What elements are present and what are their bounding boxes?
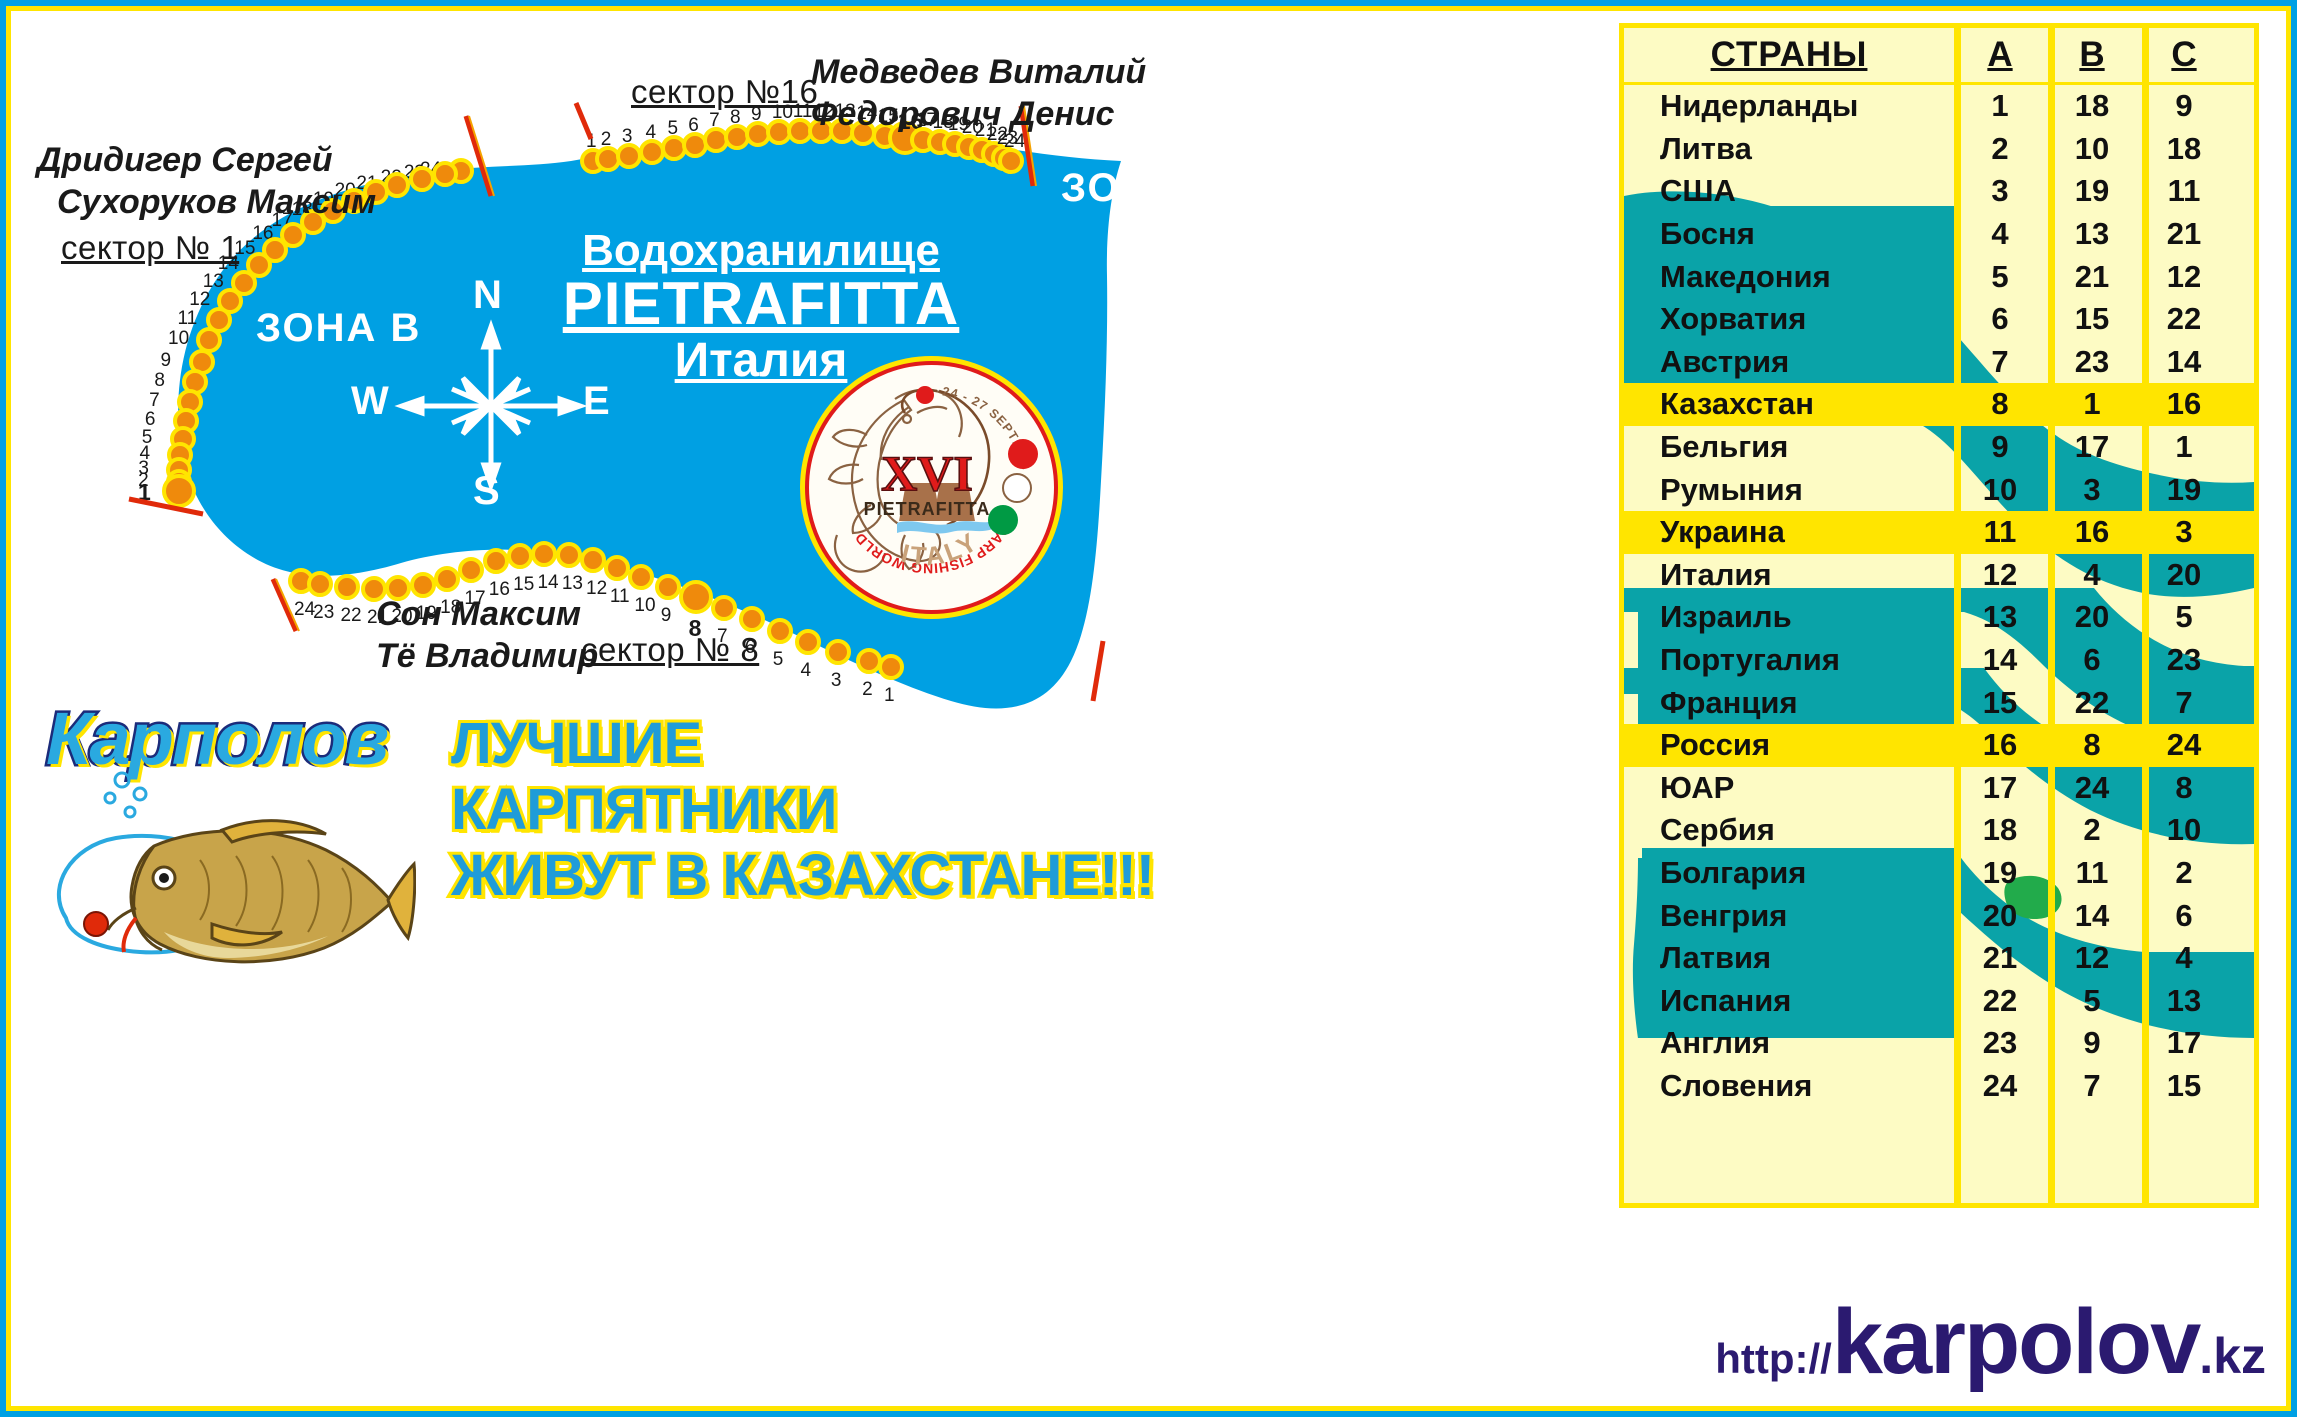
sector-peg-number: 10 xyxy=(634,595,655,617)
zone-a-angler-2: Тё Владимир xyxy=(376,635,598,677)
table-row: Италия12420 xyxy=(1624,554,2254,597)
cell-zone-a: 22 xyxy=(1954,983,2046,1019)
sector-peg[interactable] xyxy=(307,571,333,597)
cell-zone-b: 23 xyxy=(2046,344,2138,380)
poster-canvas: ЗОНА C ЗОНА B ЗОНА A Водохранилище PIETR… xyxy=(11,11,2286,1406)
sector-peg-number: 8 xyxy=(154,370,165,392)
cell-zone-b: 11 xyxy=(2046,855,2138,891)
cell-zone-b: 22 xyxy=(2046,685,2138,721)
cell-zone-a: 12 xyxy=(1954,557,2046,593)
cell-zone-a: 14 xyxy=(1954,642,2046,678)
table-row: Казахстан8116 xyxy=(1624,383,2254,426)
sector-peg[interactable] xyxy=(483,548,509,574)
cell-zone-a: 8 xyxy=(1954,386,2046,422)
table-header-row: СТРАНЫ A B C xyxy=(1624,28,2254,85)
cell-country: Англия xyxy=(1624,1025,1954,1061)
cell-zone-c: 13 xyxy=(2138,983,2230,1019)
cell-country: Израиль xyxy=(1624,599,1954,635)
cell-country: Нидерланды xyxy=(1624,88,1954,124)
cell-zone-a: 18 xyxy=(1954,812,2046,848)
zone-c-angler-1: Медведев Виталий xyxy=(811,51,1146,93)
cell-zone-b: 24 xyxy=(2046,770,2138,806)
cell-zone-b: 10 xyxy=(2046,131,2138,167)
cell-zone-c: 10 xyxy=(2138,812,2230,848)
table-row: Болгария19112 xyxy=(1624,852,2254,895)
table-row: Румыния10319 xyxy=(1624,468,2254,511)
sector-peg[interactable] xyxy=(679,580,713,614)
table-row: Босня41321 xyxy=(1624,213,2254,256)
sector-peg-number: 4 xyxy=(645,122,656,144)
zone-b-angler-2: Сухоруков Максим xyxy=(37,181,376,223)
cell-zone-c: 14 xyxy=(2138,344,2230,380)
url-protocol: http:// xyxy=(1715,1335,1832,1382)
compass-rose: N S E W xyxy=(391,311,591,501)
cell-zone-c: 7 xyxy=(2138,685,2230,721)
zone-a-angler-1: Сон Максим xyxy=(376,593,598,635)
header-countries: СТРАНЫ xyxy=(1624,35,1954,75)
cell-country: Россия xyxy=(1624,727,1954,763)
cell-zone-a: 24 xyxy=(1954,1068,2046,1104)
cell-zone-b: 18 xyxy=(2046,88,2138,124)
url-tld: .kz xyxy=(2199,1328,2266,1384)
compass-west-label: W xyxy=(351,379,389,424)
cell-country: Македония xyxy=(1624,259,1954,295)
table-row: Россия16824 xyxy=(1624,724,2254,767)
sector-peg[interactable] xyxy=(767,618,793,644)
sector-peg-number: 2 xyxy=(862,679,873,701)
cell-zone-a: 10 xyxy=(1954,472,2046,508)
cell-zone-c: 9 xyxy=(2138,88,2230,124)
sector-peg[interactable] xyxy=(507,543,533,569)
cell-zone-b: 6 xyxy=(2046,642,2138,678)
zone-a-anglers: Сон Максим Тё Владимир xyxy=(376,593,598,677)
cell-zone-a: 2 xyxy=(1954,131,2046,167)
sector-peg-number: 13 xyxy=(562,573,583,595)
sector-peg-number: 10 xyxy=(168,328,189,350)
sector-peg-number: 1 xyxy=(138,479,151,506)
sector-peg-number: 14 xyxy=(537,572,558,594)
cell-zone-c: 11 xyxy=(2138,173,2230,209)
cell-zone-a: 5 xyxy=(1954,259,2046,295)
cell-country: Испания xyxy=(1624,983,1954,1019)
cell-zone-c: 22 xyxy=(2138,301,2230,337)
cell-zone-c: 23 xyxy=(2138,642,2230,678)
cell-zone-c: 21 xyxy=(2138,216,2230,252)
sector-peg[interactable] xyxy=(580,547,606,573)
sector-peg[interactable] xyxy=(409,166,435,192)
zone-b-sector-label: сектор № 1 xyxy=(61,229,239,267)
cell-zone-b: 14 xyxy=(2046,898,2138,934)
cell-zone-b: 13 xyxy=(2046,216,2138,252)
cell-zone-c: 5 xyxy=(2138,599,2230,635)
cell-zone-a: 23 xyxy=(1954,1025,2046,1061)
zone-a-sector-label: сектор № 8 xyxy=(581,631,759,669)
table-row: Сербия18210 xyxy=(1624,809,2254,852)
cell-zone-c: 15 xyxy=(2138,1068,2230,1104)
flag-dot-red xyxy=(1008,439,1038,469)
cell-zone-a: 6 xyxy=(1954,301,2046,337)
sector-peg-number: 7 xyxy=(709,110,720,132)
zone-c-angler-2: Федорович Денис xyxy=(811,93,1146,135)
compass-south-label: S xyxy=(473,469,500,514)
cell-zone-b: 8 xyxy=(2046,727,2138,763)
flag-dot-white xyxy=(1002,473,1032,503)
table-rows-host: Нидерланды1189Литва21018США31911Босня413… xyxy=(1624,85,2254,1107)
flag-dot-green xyxy=(988,505,1018,535)
sector-peg-number: 5 xyxy=(667,118,678,140)
cell-zone-c: 24 xyxy=(2138,727,2230,763)
cell-zone-c: 8 xyxy=(2138,770,2230,806)
cell-country: Болгария xyxy=(1624,855,1954,891)
table-row: Бельгия9171 xyxy=(1624,426,2254,469)
sector-peg-number: 24 xyxy=(294,599,315,621)
sector-peg-number: 9 xyxy=(161,350,172,372)
sector-peg[interactable] xyxy=(162,474,196,508)
cell-zone-c: 18 xyxy=(2138,131,2230,167)
zone-label-c: ЗОНА C xyxy=(1061,166,1226,211)
table-row: Испания22513 xyxy=(1624,979,2254,1022)
badge-place-name: PIETRAFITTA xyxy=(864,499,991,519)
slogan-line-1: ЛУЧШИЕ xyxy=(451,711,1154,777)
sector-peg-number: 1 xyxy=(586,131,597,153)
cell-zone-b: 15 xyxy=(2046,301,2138,337)
cell-zone-c: 17 xyxy=(2138,1025,2230,1061)
sector-peg-number: 4 xyxy=(801,660,812,682)
sector-peg-number: 2 xyxy=(601,129,612,151)
table-row: Португалия14623 xyxy=(1624,639,2254,682)
header-zone-b: B xyxy=(2046,35,2138,75)
table-row: Латвия21124 xyxy=(1624,937,2254,980)
table-row: США31911 xyxy=(1624,170,2254,213)
sector-peg[interactable] xyxy=(432,161,458,187)
badge-roman-numeral: XVI xyxy=(881,445,973,501)
cell-zone-a: 9 xyxy=(1954,429,2046,465)
slogan-block: ЛУЧШИЕ КАРПЯТНИКИ ЖИВУТ В КАЗАХСТАНЕ!!! xyxy=(451,711,1154,909)
cell-zone-c: 4 xyxy=(2138,940,2230,976)
cell-zone-b: 12 xyxy=(2046,940,2138,976)
header-zone-c: C xyxy=(2138,35,2230,75)
lake-title-line2: PIETRAFITTA xyxy=(551,269,971,338)
sector-peg[interactable] xyxy=(825,639,851,665)
cell-country: Румыния xyxy=(1624,472,1954,508)
table-row: ЮАР17248 xyxy=(1624,767,2254,810)
table-row: Нидерланды1189 xyxy=(1624,85,2254,128)
cell-zone-c: 16 xyxy=(2138,386,2230,422)
cell-country: Латвия xyxy=(1624,940,1954,976)
cell-zone-a: 13 xyxy=(1954,599,2046,635)
cell-zone-b: 16 xyxy=(2046,514,2138,550)
sector-peg-number: 6 xyxy=(688,115,699,137)
cell-country: Сербия xyxy=(1624,812,1954,848)
cell-zone-b: 3 xyxy=(2046,472,2138,508)
cell-zone-b: 1 xyxy=(2046,386,2138,422)
cell-country: США xyxy=(1624,173,1954,209)
cell-zone-a: 7 xyxy=(1954,344,2046,380)
zone-c-sector-label: сектор №16 xyxy=(631,73,818,111)
sector-peg-number: 3 xyxy=(831,670,842,692)
table-row: Македония52112 xyxy=(1624,255,2254,298)
cell-zone-c: 6 xyxy=(2138,898,2230,934)
cell-zone-a: 21 xyxy=(1954,940,2046,976)
table-row: Хорватия61522 xyxy=(1624,298,2254,341)
cell-zone-a: 16 xyxy=(1954,727,2046,763)
cell-zone-c: 1 xyxy=(2138,429,2230,465)
cell-zone-a: 20 xyxy=(1954,898,2046,934)
table-row: Украина11163 xyxy=(1624,511,2254,554)
cell-zone-c: 12 xyxy=(2138,259,2230,295)
cell-zone-c: 2 xyxy=(2138,855,2230,891)
sector-peg[interactable] xyxy=(795,629,821,655)
sector-peg-number: 11 xyxy=(610,586,630,608)
cell-zone-c: 19 xyxy=(2138,472,2230,508)
cell-zone-b: 7 xyxy=(2046,1068,2138,1104)
cell-zone-b: 2 xyxy=(2046,812,2138,848)
carp-fish-illustration xyxy=(36,768,416,968)
cell-country: Литва xyxy=(1624,131,1954,167)
slogan-line-2: КАРПЯТНИКИ xyxy=(451,777,1154,843)
slogan-line-3: ЖИВУТ В КАЗАХСТАНЕ!!! xyxy=(451,843,1154,909)
table-row: Словения24715 xyxy=(1624,1065,2254,1108)
cell-zone-c: 3 xyxy=(2138,514,2230,550)
cell-zone-b: 5 xyxy=(2046,983,2138,1019)
table-row: Франция15227 xyxy=(1624,681,2254,724)
cell-country: Украина xyxy=(1624,514,1954,550)
table-row: Литва21018 xyxy=(1624,128,2254,171)
sector-peg-number: 3 xyxy=(622,126,633,148)
table-row: Англия23917 xyxy=(1624,1022,2254,1065)
cell-zone-a: 11 xyxy=(1954,514,2046,550)
compass-north-label: N xyxy=(473,273,502,318)
cell-zone-b: 17 xyxy=(2046,429,2138,465)
website-url[interactable]: http://karpolov.kz xyxy=(1715,1296,2266,1388)
cell-zone-b: 9 xyxy=(2046,1025,2138,1061)
cell-country: Бельгия xyxy=(1624,429,1954,465)
cell-zone-b: 21 xyxy=(2046,259,2138,295)
header-zone-a: A xyxy=(1954,35,2046,75)
zone-c-anglers: Медведев Виталий Федорович Денис xyxy=(811,51,1146,135)
table-row: Венгрия20146 xyxy=(1624,894,2254,937)
zone-b-angler-1: Дридигер Сергей xyxy=(37,139,376,181)
cell-zone-b: 20 xyxy=(2046,599,2138,635)
cell-zone-c: 20 xyxy=(2138,557,2230,593)
sector-peg-number: 9 xyxy=(661,605,672,627)
cell-country: Словения xyxy=(1624,1068,1954,1104)
zone-b-anglers: Дридигер Сергей Сухоруков Максим xyxy=(37,139,376,223)
cell-zone-a: 3 xyxy=(1954,173,2046,209)
sector-peg[interactable] xyxy=(878,654,904,680)
cell-zone-a: 19 xyxy=(1954,855,2046,891)
sector-peg-number: 5 xyxy=(773,649,784,671)
cell-country: Австрия xyxy=(1624,344,1954,380)
cell-country: Франция xyxy=(1624,685,1954,721)
cell-zone-b: 19 xyxy=(2046,173,2138,209)
sector-peg[interactable] xyxy=(604,555,630,581)
url-domain: karpolov xyxy=(1832,1291,2199,1393)
cell-zone-b: 4 xyxy=(2046,557,2138,593)
cell-zone-a: 1 xyxy=(1954,88,2046,124)
results-table: СТРАНЫ A B C Нидерланды1189Литва21018США… xyxy=(1624,28,2254,1107)
sector-peg[interactable] xyxy=(655,574,681,600)
results-table-panel: СТРАНЫ A B C Нидерланды1189Литва21018США… xyxy=(1619,23,2259,1208)
cell-country: Италия xyxy=(1624,557,1954,593)
cell-country: Босня xyxy=(1624,216,1954,252)
championship-badge: 24 - 27 SEPTEMBER 2014 CARP FISHING WORL… xyxy=(805,361,1058,614)
sector-peg-number: 22 xyxy=(340,605,361,627)
cell-country: ЮАР xyxy=(1624,770,1954,806)
table-row: Израиль13205 xyxy=(1624,596,2254,639)
cell-country: Венгрия xyxy=(1624,898,1954,934)
sector-peg-number: 1 xyxy=(884,685,895,707)
cell-country: Португалия xyxy=(1624,642,1954,678)
karpolov-logo: Карполов xyxy=(36,696,416,946)
cell-zone-a: 4 xyxy=(1954,216,2046,252)
cell-country: Хорватия xyxy=(1624,301,1954,337)
table-row: Австрия72314 xyxy=(1624,341,2254,384)
cell-zone-a: 15 xyxy=(1954,685,2046,721)
cell-country: Казахстан xyxy=(1624,386,1954,422)
compass-east-label: E xyxy=(583,379,610,424)
sector-peg-number: 11 xyxy=(178,308,198,330)
cell-zone-a: 17 xyxy=(1954,770,2046,806)
sector-peg-number: 23 xyxy=(313,602,334,624)
sector-peg[interactable] xyxy=(556,542,582,568)
